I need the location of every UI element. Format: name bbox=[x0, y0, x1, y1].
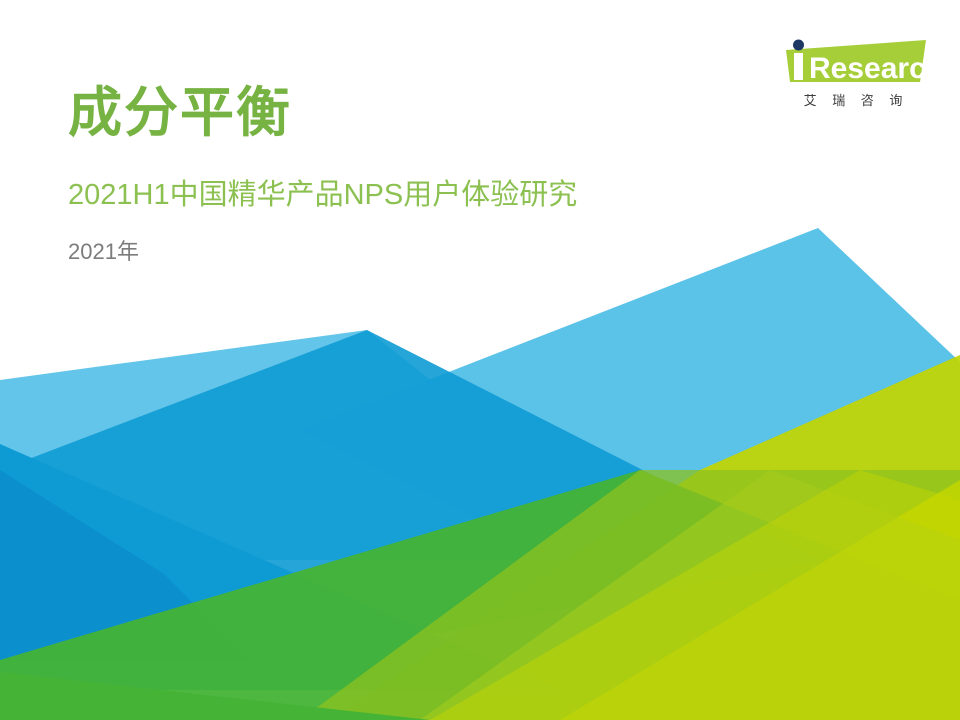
logo-wordmark-text: Research bbox=[809, 52, 932, 85]
publication-date: 2021年 bbox=[68, 239, 708, 265]
title-slide: 成分平衡 2021H1中国精华产品NPS用户体验研究 2021年 Researc… bbox=[0, 0, 960, 720]
logo-i-stem-shape bbox=[794, 53, 803, 80]
iresearch-logo: Research 艾 瑞 咨 询 bbox=[774, 34, 932, 109]
logo-shape-icon: Research bbox=[774, 34, 932, 86]
page-subtitle: 2021H1中国精华产品NPS用户体验研究 bbox=[68, 178, 708, 213]
logo-mark: Research bbox=[774, 34, 932, 86]
logo-i-dot-icon bbox=[793, 40, 804, 51]
page-title: 成分平衡 bbox=[68, 82, 708, 144]
logo-chinese-name: 艾 瑞 咨 询 bbox=[774, 90, 932, 109]
title-text-block: 成分平衡 2021H1中国精华产品NPS用户体验研究 2021年 bbox=[68, 82, 708, 265]
